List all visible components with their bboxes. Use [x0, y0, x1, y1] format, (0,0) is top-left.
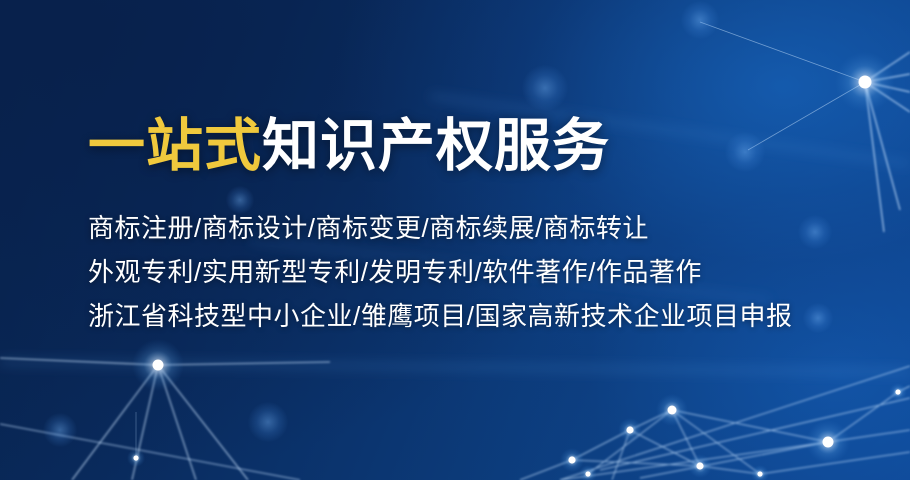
- service-list: 商标注册/商标设计/商标变更/商标续展/商标转让 外观专利/实用新型专利/发明专…: [88, 206, 792, 338]
- page-title: 一站式知识产权服务: [88, 112, 792, 180]
- banner-content: 一站式知识产权服务 商标注册/商标设计/商标变更/商标续展/商标转让 外观专利/…: [88, 112, 792, 338]
- headline-highlight: 一站式: [88, 114, 262, 178]
- service-line-trademark: 商标注册/商标设计/商标变更/商标续展/商标转让: [88, 206, 792, 250]
- service-line-enterprise: 浙江省科技型中小企业/雏鹰项目/国家高新技术企业项目申报: [88, 294, 792, 338]
- headline-rest: 知识产权服务: [262, 114, 610, 178]
- hero-banner: 一站式知识产权服务 商标注册/商标设计/商标变更/商标续展/商标转让 外观专利/…: [0, 0, 910, 480]
- service-line-patent: 外观专利/实用新型专利/发明专利/软件著作/作品著作: [88, 250, 792, 294]
